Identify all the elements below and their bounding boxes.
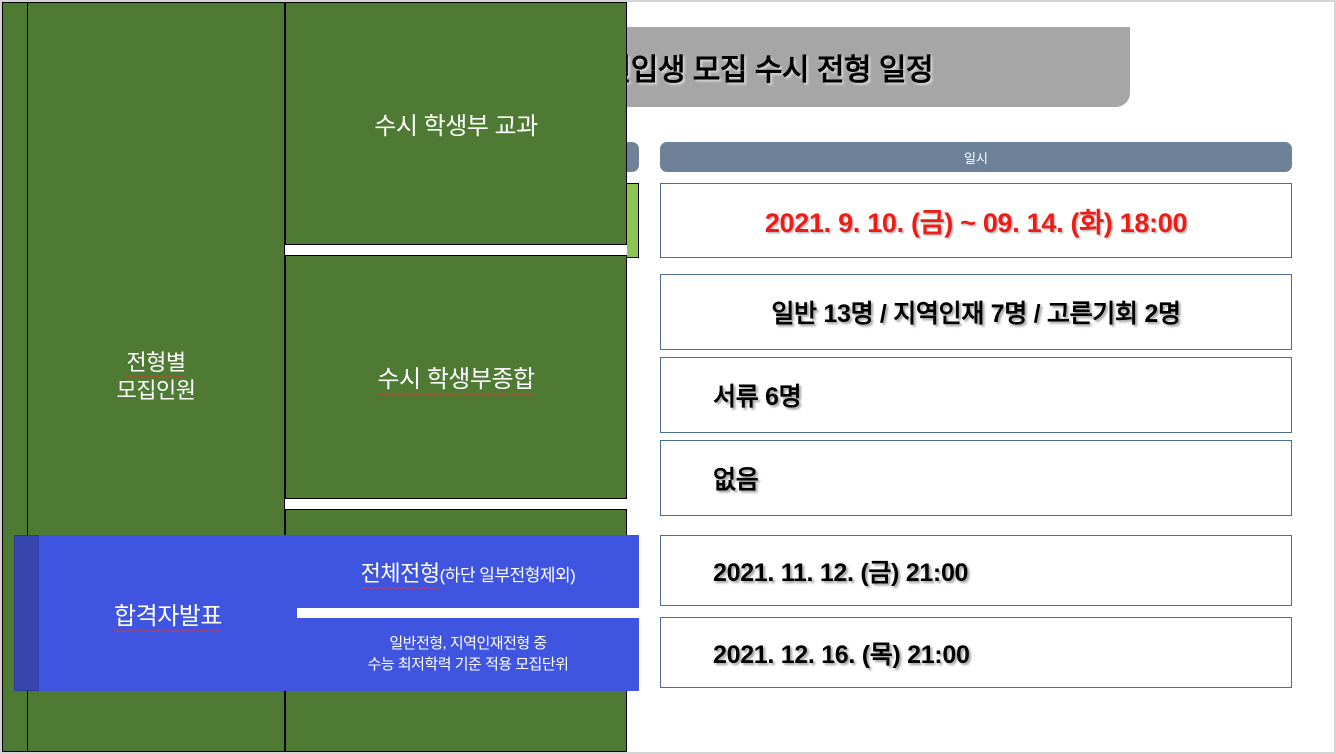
slide-page: 2022학년도 ‘신소재에너지공학과’ 신입생 모집 수시 전형 일정 구분 일… — [0, 0, 1336, 754]
row-announcement-label: 합격자발표 — [39, 535, 297, 691]
subrow-min-csat-line1: 일반전형, 지역인재전형 중 — [389, 635, 546, 652]
row-quota-value-1: 일반 13명 / 지역인재 7명 / 고른기회 2명 — [660, 274, 1292, 350]
row-quota-value-2-text: 서류 6명 — [661, 377, 1291, 413]
row-announcement-block: 합격자발표 전체전형(하단 일부전형제외) 일반전형, 지역인재전형 중 수능 … — [14, 535, 639, 691]
row-announcement-label-text: 합격자발표 — [114, 596, 222, 631]
subrow-all-types-note: (하단 일부전형제외) — [440, 566, 576, 585]
row-application-value: 2021. 9. 10. (금) ~ 09. 14. (화) 18:00 — [660, 183, 1292, 258]
subrow-susi-comprehensive-label: 수시 학생부종합 — [377, 359, 534, 394]
row-quota-value-3: 없음 — [660, 440, 1292, 516]
subrow-all-types: 전체전형(하단 일부전형제외) — [297, 535, 639, 608]
row-announcement-accent-strip — [14, 535, 39, 691]
subrow-gap-2 — [285, 499, 627, 509]
subrow-min-csat: 일반전형, 지역인재전형 중 수능 최저학력 기준 적용 모집단위 — [297, 618, 639, 691]
row-quota-label-line1: 전형별 — [117, 349, 196, 377]
row-announcement-value-1: 2021. 11. 12. (금) 21:00 — [660, 535, 1292, 606]
row-application-value-text: 2021. 9. 10. (금) ~ 09. 14. (화) 18:00 — [661, 201, 1291, 240]
row-announcement-value-2-text: 2021. 12. 16. (목) 21:00 — [661, 635, 1291, 671]
subrow-all-types-label: 전체전형 — [361, 556, 440, 588]
subrow-min-csat-line2: 수능 최저학력 기준 적용 모집단위 — [368, 656, 569, 673]
row-announcement-value-2: 2021. 12. 16. (목) 21:00 — [660, 617, 1292, 688]
subrow-susi-subject-label: 수시 학생부 교과 — [374, 106, 537, 141]
subrow-susi-comprehensive: 수시 학생부종합 — [285, 255, 627, 498]
column-header-datetime: 일시 — [660, 142, 1292, 172]
subrow-gap-1 — [285, 245, 627, 255]
row-quota-value-3-text: 없음 — [661, 460, 1291, 496]
column-header-datetime-label: 일시 — [964, 148, 988, 167]
row-quota-value-1-text: 일반 13명 / 지역인재 7명 / 고른기회 2명 — [661, 294, 1291, 330]
row-quota-block: 전형별 모집인원 수시 학생부 교과 수시 학생부종합 수시 전형 외(학생부교… — [2, 2, 627, 246]
row-quota-label-line2: 모집인원 — [117, 377, 196, 405]
subrow-susi-subject: 수시 학생부 교과 — [285, 2, 627, 245]
row-announcement-value-1-text: 2021. 11. 12. (금) 21:00 — [661, 553, 1291, 589]
row-quota-value-2: 서류 6명 — [660, 357, 1292, 433]
subrow-gap-3 — [297, 608, 639, 618]
row-announcement-subrows: 전체전형(하단 일부전형제외) 일반전형, 지역인재전형 중 수능 최저학력 기… — [297, 535, 639, 691]
